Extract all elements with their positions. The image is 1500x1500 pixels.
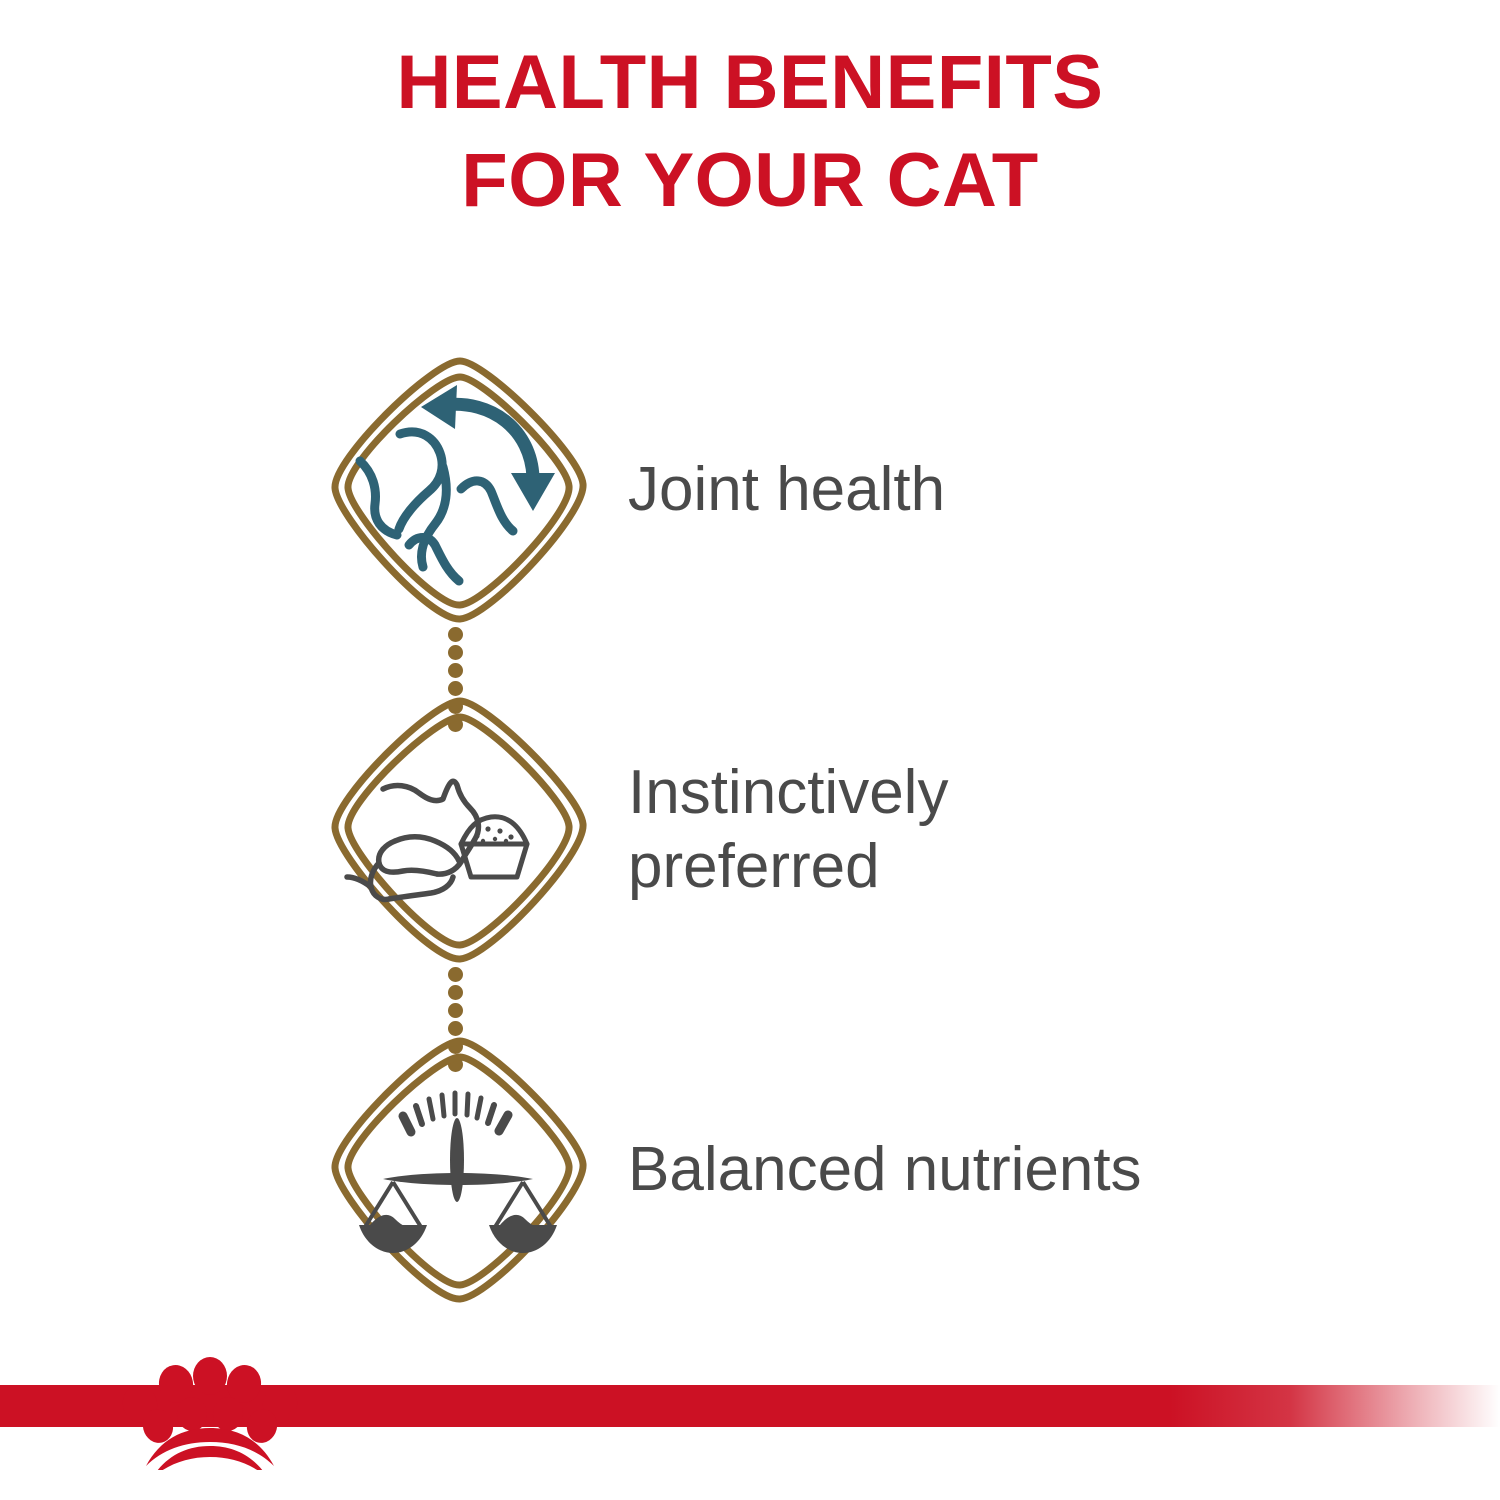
joint-bone-arrow-icon [325,349,595,631]
health-benefits-infographic: HEALTH BENEFITS FOR YOUR CAT [0,0,1500,1500]
benefit-label-balanced-nutrients: Balanced nutrients [628,1133,1142,1207]
balanced-nutrients-icon-slot [310,1000,610,1340]
instinctively-preferred-icon-slot [310,660,610,1000]
cat-eating-bowl-icon [325,689,595,971]
benefit-label-line-1: Joint health [628,453,945,527]
footer [0,1340,1500,1500]
benefits-list: Joint health [0,320,1500,1340]
benefit-label-line-2: preferred [628,830,948,904]
benefit-label-instinctively-preferred: Instinctively preferred [628,756,948,904]
benefit-label-joint-health: Joint health [628,453,945,527]
benefit-label-line-1: Instinctively [628,756,948,830]
joint-health-icon-slot [310,320,610,660]
benefit-label-line-1: Balanced nutrients [628,1133,1142,1207]
benefit-item-joint-health: Joint health [0,320,1500,660]
benefit-item-balanced-nutrients: Balanced nutrients [0,1000,1500,1340]
page-title-line-1: HEALTH BENEFITS [0,34,1500,132]
balance-scale-icon [325,1029,595,1311]
benefit-item-instinctively-preferred: Instinctively preferred [0,660,1500,1000]
page-title-line-2: FOR YOUR CAT [0,132,1500,230]
page-title: HEALTH BENEFITS FOR YOUR CAT [0,34,1500,230]
royal-canin-crown-icon [110,1352,310,1470]
